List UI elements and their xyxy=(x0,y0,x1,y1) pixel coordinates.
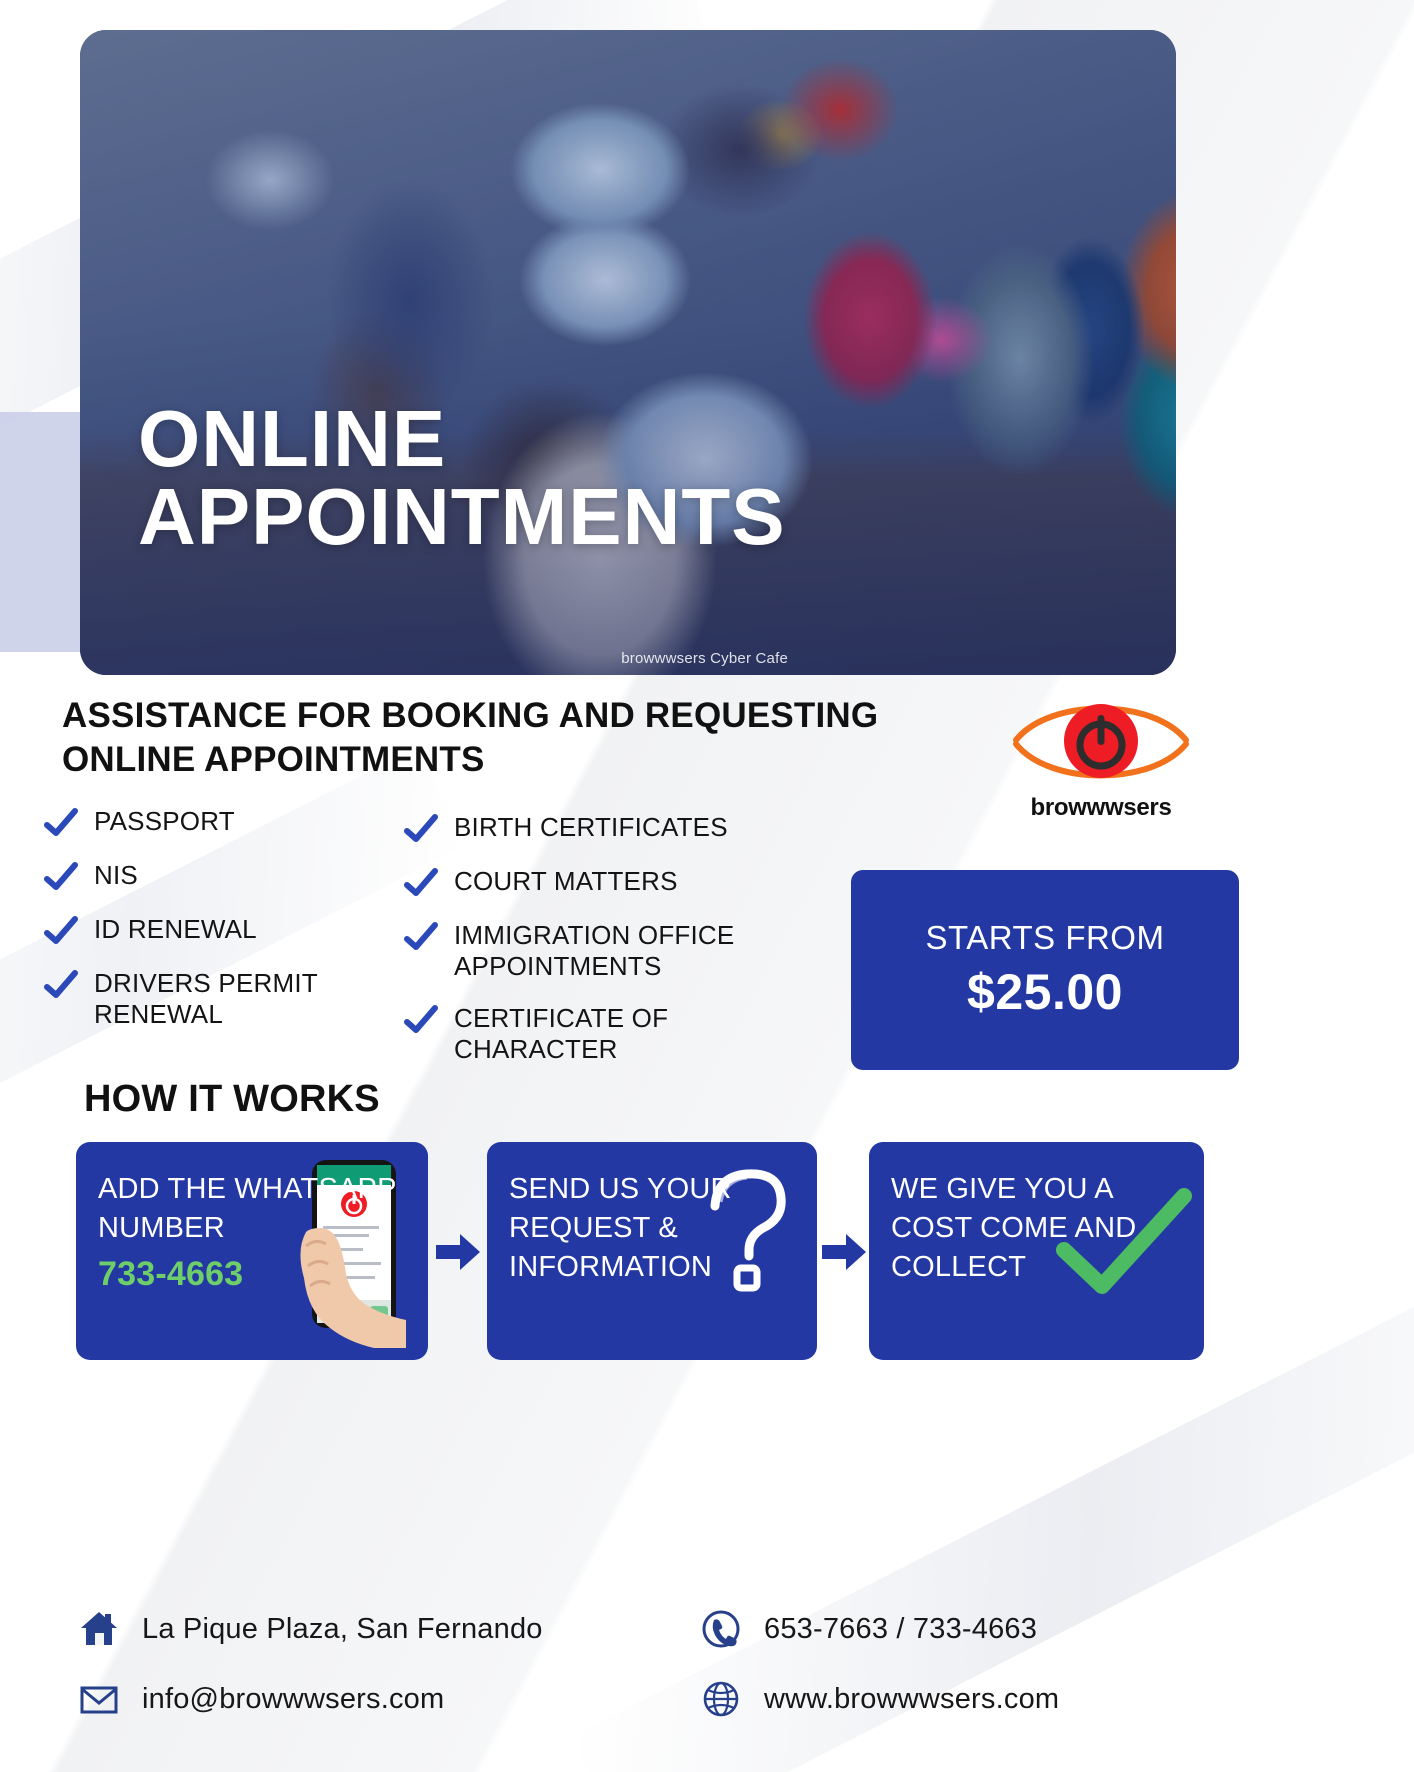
flyer-page: ONLINE APPOINTMENTS browwwsers Cyber Caf… xyxy=(0,0,1414,1772)
globe-icon xyxy=(700,1678,742,1720)
hero-title-line-1: ONLINE xyxy=(138,400,786,478)
price-value: $25.00 xyxy=(967,963,1123,1021)
page-headline: ASSISTANCE FOR BOOKING AND REQUESTING ON… xyxy=(62,694,992,782)
footer-phone-row[interactable]: 653-7663 / 733-4663 xyxy=(700,1608,1037,1650)
how-it-works-title: HOW IT WORKS xyxy=(84,1078,380,1121)
step-text: WE GIVE YOU A COST COME AND COLLECT xyxy=(891,1170,1182,1287)
check-icon xyxy=(44,862,78,892)
check-icon xyxy=(404,922,438,952)
footer-contact: La Pique Plaza, San Fernando info@browww… xyxy=(0,1596,1414,1772)
step-text: ADD THE WHATSAPP NUMBER xyxy=(98,1170,406,1248)
list-item: ID RENEWAL xyxy=(44,914,404,946)
list-item: BIRTH CERTIFICATES xyxy=(404,812,834,844)
service-label: IMMIGRATION OFFICE APPOINTMENTS xyxy=(454,920,834,981)
check-icon xyxy=(44,916,78,946)
services-right-column: BIRTH CERTIFICATES COURT MATTERS IMMIGRA… xyxy=(404,812,834,1087)
list-item: PASSPORT xyxy=(44,806,404,838)
arrow-right-icon xyxy=(434,1232,482,1272)
check-icon xyxy=(44,808,78,838)
check-icon xyxy=(44,970,78,1000)
check-icon xyxy=(404,868,438,898)
hero-title-line-2: APPOINTMENTS xyxy=(138,478,786,556)
service-label: NIS xyxy=(94,860,138,891)
footer-email: info@browwwsers.com xyxy=(142,1683,444,1716)
hero-overlay-tint xyxy=(80,30,1176,675)
brand-logo-name: browwwsers xyxy=(1006,794,1196,822)
services-left-column: PASSPORT NIS ID RENEWAL DRIVERS PERMIT R… xyxy=(44,806,404,1051)
list-item: IMMIGRATION OFFICE APPOINTMENTS xyxy=(404,920,834,981)
service-label: DRIVERS PERMIT RENEWAL xyxy=(94,968,404,1029)
footer-email-row[interactable]: info@browwwsers.com xyxy=(78,1678,444,1720)
check-icon xyxy=(404,1005,438,1035)
list-item: COURT MATTERS xyxy=(404,866,834,898)
footer-address: La Pique Plaza, San Fernando xyxy=(142,1613,543,1646)
footer-phone: 653-7663 / 733-4663 xyxy=(764,1613,1037,1646)
hero-title: ONLINE APPOINTMENTS xyxy=(138,400,786,555)
arrow-right-icon xyxy=(820,1232,868,1272)
service-label: BIRTH CERTIFICATES xyxy=(454,812,728,843)
footer-website-row[interactable]: www.browwwsers.com xyxy=(700,1678,1059,1720)
price-label: STARTS FROM xyxy=(926,919,1165,957)
hero-watermark: browwwsers Cyber Cafe xyxy=(621,650,788,667)
service-label: CERTIFICATE OF CHARACTER xyxy=(454,1003,834,1064)
list-item: NIS xyxy=(44,860,404,892)
list-item: CERTIFICATE OF CHARACTER xyxy=(404,1003,834,1064)
step-whatsapp-number: 733-4663 xyxy=(98,1252,406,1298)
how-it-works-step-3: WE GIVE YOU A COST COME AND COLLECT xyxy=(869,1142,1204,1360)
service-label: ID RENEWAL xyxy=(94,914,257,945)
brand-logo: browwwsers xyxy=(1006,688,1196,822)
footer-website: www.browwwsers.com xyxy=(764,1683,1059,1716)
how-it-works-step-2: SEND US YOUR REQUEST & INFORMATION xyxy=(487,1142,817,1360)
home-icon xyxy=(78,1608,120,1650)
browwwsers-eye-logo-icon xyxy=(1008,688,1194,792)
service-label: COURT MATTERS xyxy=(454,866,678,897)
check-icon xyxy=(404,814,438,844)
price-callout: STARTS FROM $25.00 xyxy=(851,870,1239,1070)
service-label: PASSPORT xyxy=(94,806,235,837)
footer-address-row: La Pique Plaza, San Fernando xyxy=(78,1608,543,1650)
how-it-works-step-1: ADD THE WHATSAPP NUMBER 733-4663 xyxy=(76,1142,428,1360)
hero-banner: ONLINE APPOINTMENTS browwwsers Cyber Caf… xyxy=(80,30,1176,675)
step-text: SEND US YOUR REQUEST & INFORMATION xyxy=(509,1170,795,1287)
list-item: DRIVERS PERMIT RENEWAL xyxy=(44,968,404,1029)
phone-icon xyxy=(700,1608,742,1650)
mail-icon xyxy=(78,1678,120,1720)
